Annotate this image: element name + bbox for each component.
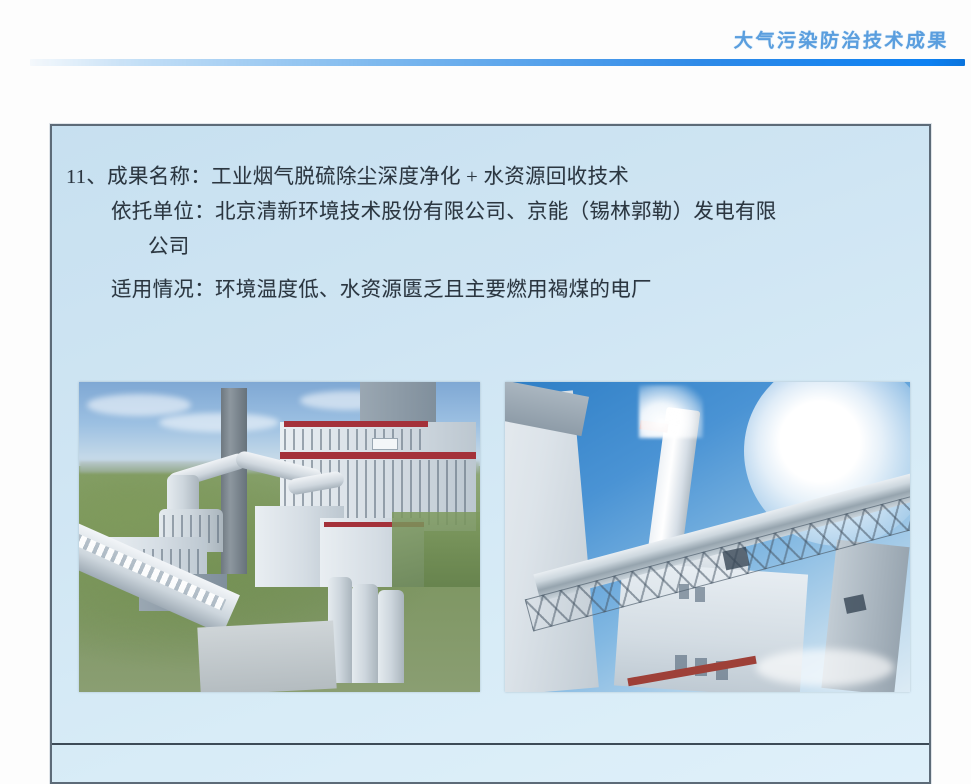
frame-divider — [52, 743, 929, 745]
photo-silo — [352, 584, 378, 683]
photo-window-grid — [284, 429, 424, 451]
photo-silo — [378, 590, 404, 683]
photo-yard — [198, 620, 338, 692]
entry-line-title: 11、成果名称：工业烟气脱硫除尘深度净化 + 水资源回收技术 — [62, 160, 922, 195]
power-plant-aerial-photo — [79, 382, 480, 692]
entry-line-org-2: 公司 — [62, 230, 922, 265]
photo-cloud — [159, 413, 279, 432]
page-header: 大气污染防治技术成果 — [0, 0, 971, 70]
slide-frame: 11、成果名称：工业烟气脱硫除尘深度净化 + 水资源回收技术 依托单位：北京清新… — [50, 124, 931, 784]
entry-line-org-1: 依托单位：北京清新环境技术股份有限公司、京能（锡林郭勒）发电有限 — [62, 195, 922, 230]
photo-window — [695, 587, 705, 603]
photo-chimney — [221, 388, 247, 574]
photo-red-roof — [280, 452, 476, 459]
photo-signboard — [372, 438, 398, 451]
photo-steam-plume — [639, 385, 704, 438]
photo-red-roof — [284, 421, 428, 427]
photo-cloud — [87, 394, 191, 416]
header-gradient-rule — [30, 59, 965, 66]
chimney-plume-photo — [505, 382, 910, 692]
photo-cloud — [756, 649, 894, 686]
page-header-title: 大气污染防治技术成果 — [733, 26, 949, 53]
photo-trees — [392, 512, 480, 586]
entry-text-block: 11、成果名称：工业烟气脱硫除尘深度净化 + 水资源回收技术 依托单位：北京清新… — [62, 160, 922, 308]
entry-line-application: 适用情况：环境温度低、水资源匮乏且主要燃用褐煤的电厂 — [62, 273, 922, 308]
